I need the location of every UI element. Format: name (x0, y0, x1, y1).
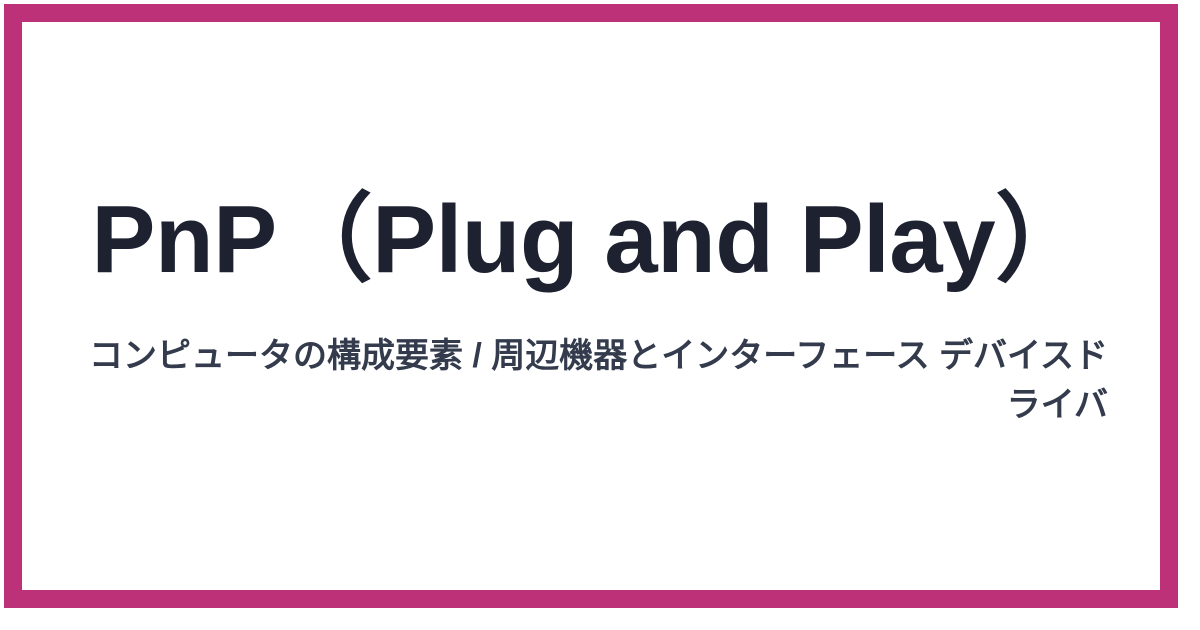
page-title: PnP（Plug and Play） (62, 183, 1120, 296)
slide-subtitle: コンピュータの構成要素 / 周辺機器とインターフェース デバイスドライバ (62, 332, 1108, 429)
slide-content: PnP（Plug and Play） コンピュータの構成要素 / 周辺機器とイン… (22, 183, 1160, 429)
slide-card: PnP（Plug and Play） コンピュータの構成要素 / 周辺機器とイン… (4, 4, 1178, 608)
